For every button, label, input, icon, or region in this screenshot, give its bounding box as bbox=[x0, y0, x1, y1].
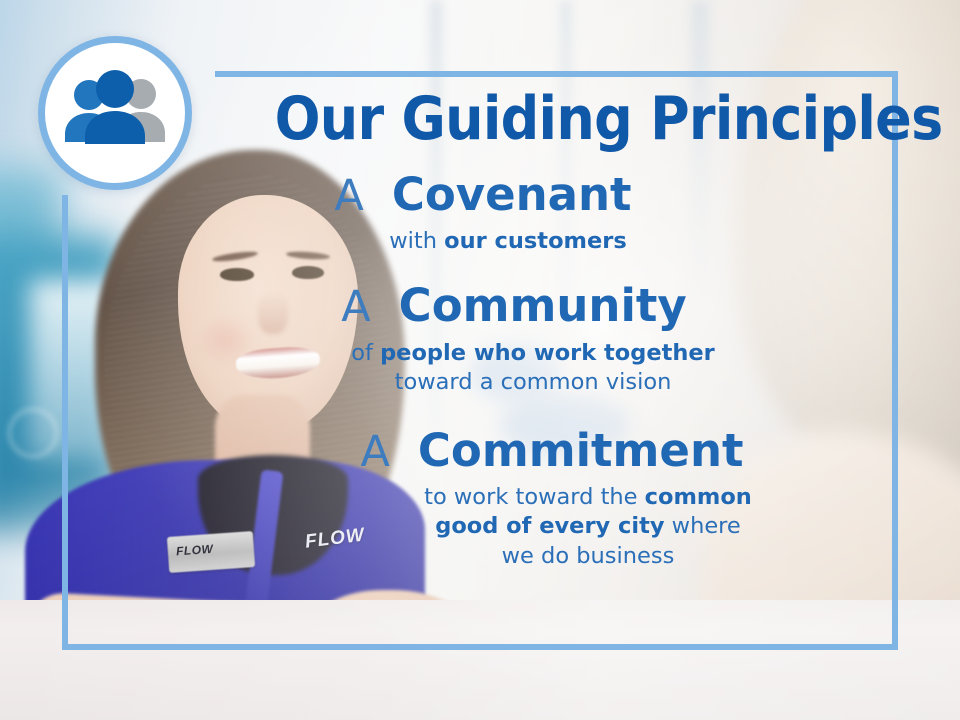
page-title: Our Guiding Principles bbox=[140, 89, 817, 149]
subtext-line: we do business bbox=[322, 542, 854, 571]
subtext-span-bold: people who work together bbox=[380, 340, 715, 366]
principle-heading-commitment: A Commitment bbox=[102, 427, 854, 475]
subtext-span-bold: good of every city bbox=[435, 513, 664, 539]
principle-article: A bbox=[360, 427, 403, 477]
subtext-line: to work toward the common bbox=[322, 483, 854, 512]
principle-subtext-covenant: with our customers bbox=[102, 227, 854, 256]
principle-keyword: Commitment bbox=[418, 424, 744, 477]
principle-article: A bbox=[334, 171, 377, 221]
subtext-span: with bbox=[389, 228, 444, 254]
principle-heading-covenant: A Covenant bbox=[102, 171, 854, 219]
subtext-span: of bbox=[351, 340, 380, 366]
principle-block-community: A Community of people who work together … bbox=[102, 282, 854, 397]
principle-heading-community: A Community bbox=[102, 282, 854, 330]
principle-block-covenant: A Covenant with our customers bbox=[102, 171, 854, 256]
subtext-span: to work toward the bbox=[424, 484, 645, 510]
principle-subtext-community: of people who work together toward a com… bbox=[102, 339, 854, 398]
subtext-line: of people who work together bbox=[212, 339, 854, 368]
subtext-span-bold: our customers bbox=[444, 228, 627, 254]
principle-keyword: Community bbox=[399, 279, 687, 332]
banner-root: FLOW FLOW bbox=[0, 0, 960, 720]
principle-article: A bbox=[341, 282, 384, 332]
principle-block-commitment: A Commitment to work toward the common g… bbox=[102, 427, 854, 571]
principles-content: Our Guiding Principles A Covenant with o… bbox=[62, 71, 898, 650]
subtext-span: toward a common vision bbox=[395, 369, 672, 395]
subtext-span: we do business bbox=[502, 543, 675, 569]
subtext-line: good of every city where bbox=[322, 512, 854, 541]
subtext-span-bold: common bbox=[645, 484, 752, 510]
subtext-line: with our customers bbox=[162, 227, 854, 256]
principle-subtext-commitment: to work toward the common good of every … bbox=[102, 483, 854, 571]
subtext-line: toward a common vision bbox=[212, 368, 854, 397]
principle-keyword: Covenant bbox=[392, 168, 632, 221]
subtext-span: where bbox=[665, 513, 741, 539]
